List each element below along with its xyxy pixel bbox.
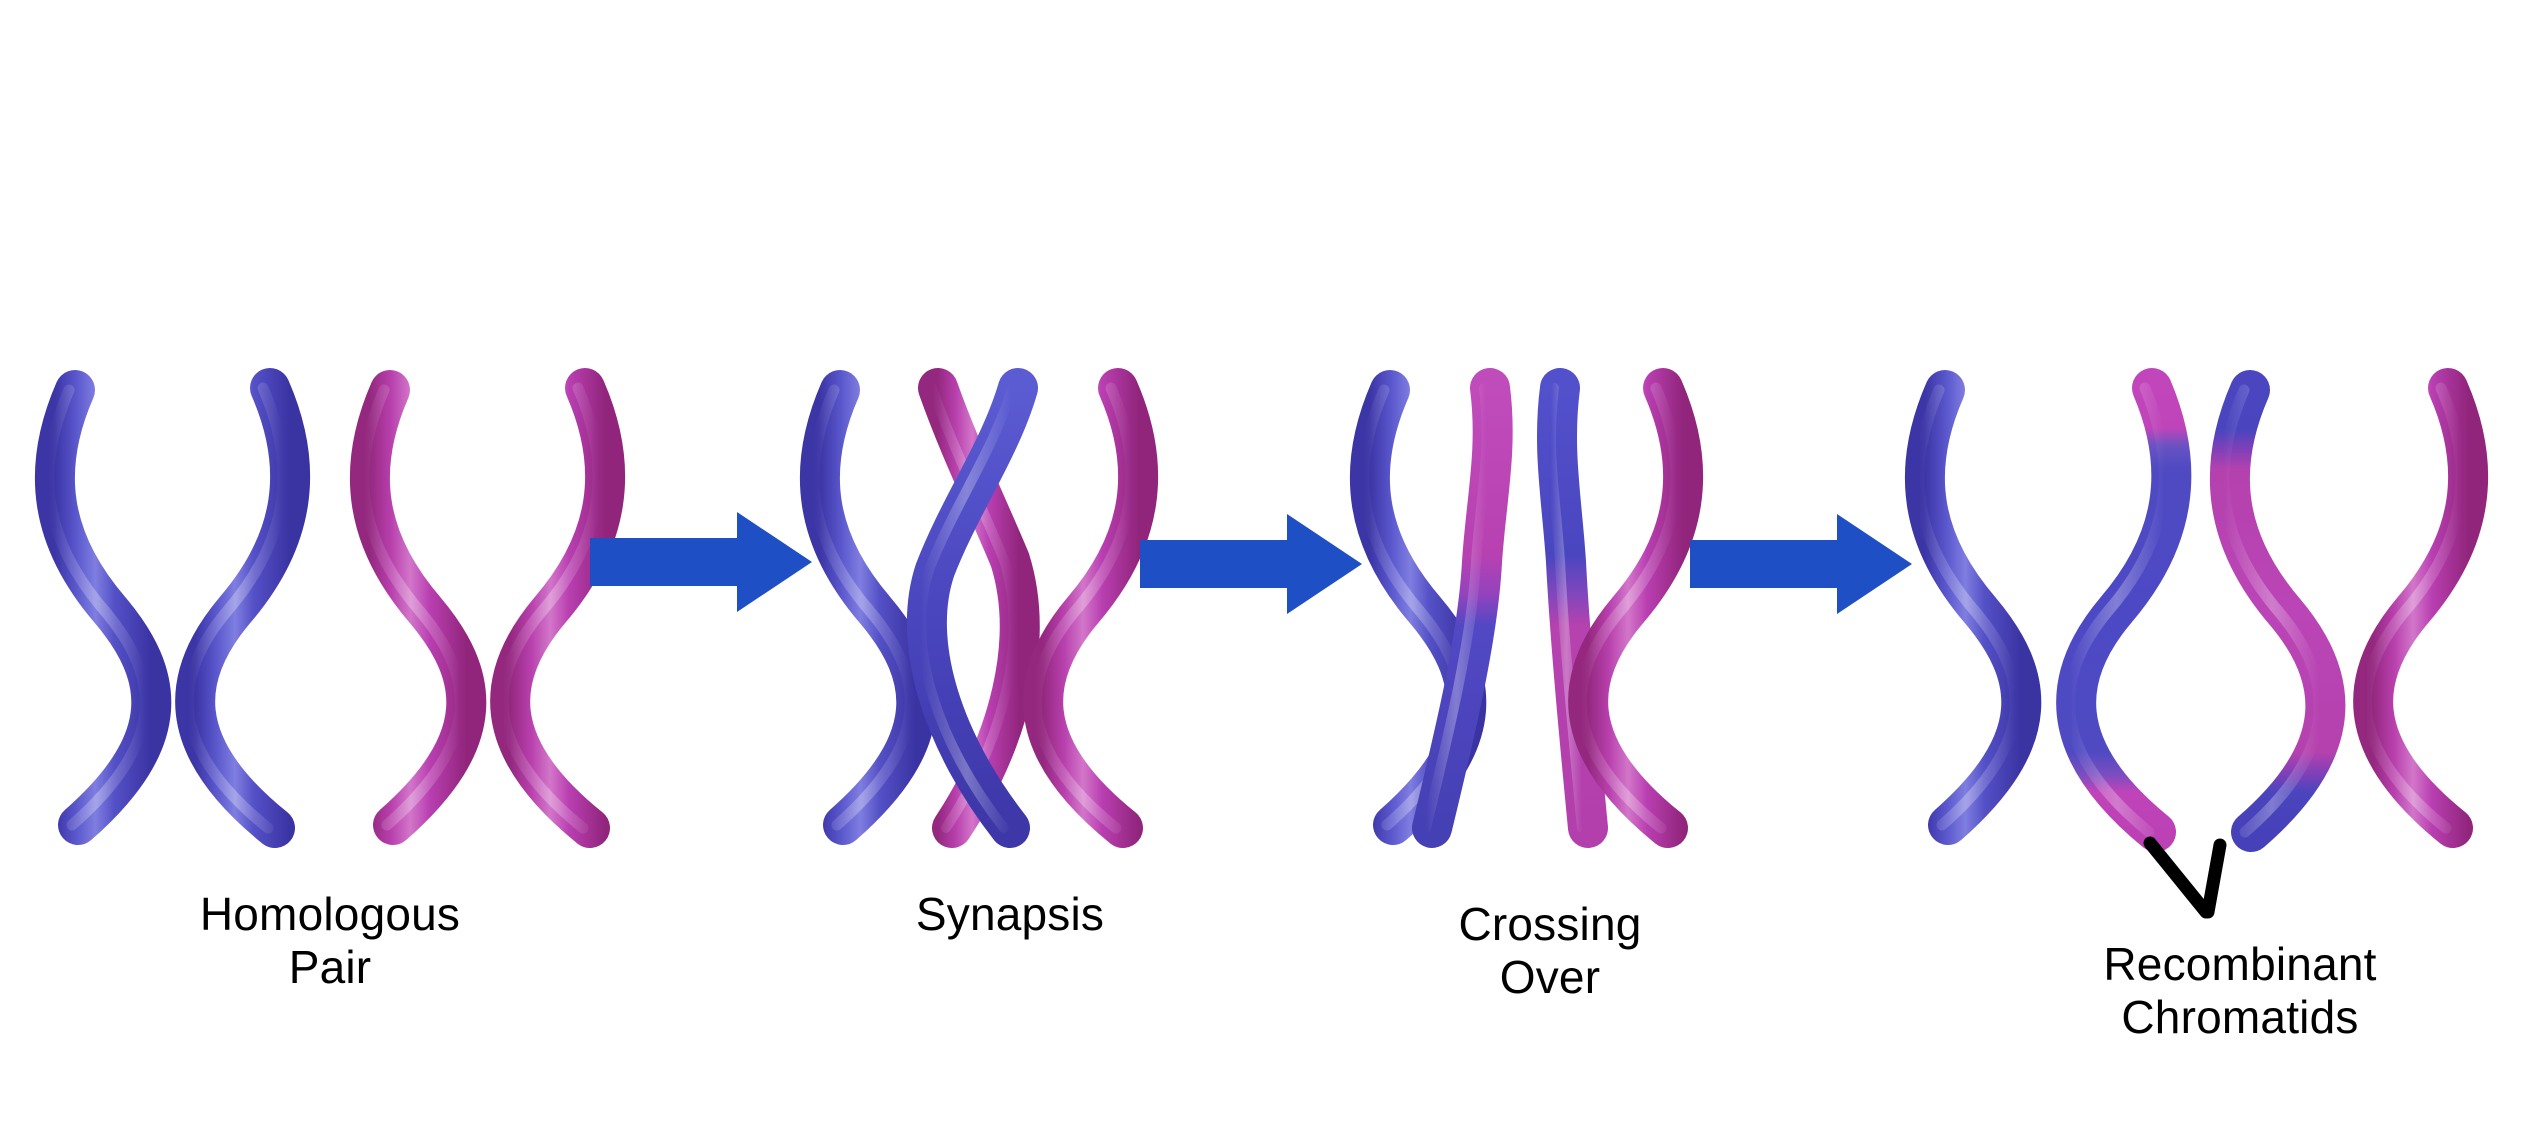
stage-homologous-pair [49, 388, 605, 828]
blue-homolog-chromosome [49, 388, 290, 828]
arrow-right-icon [590, 512, 812, 612]
magenta-homolog-chromosome [364, 388, 605, 828]
arrow-2 [1140, 514, 1362, 614]
stage-label-recombinant-chromatids: Recombinant Chromatids [1930, 938, 2531, 1045]
stage-label-crossing-over: Crossing Over [1240, 898, 1860, 1005]
stage-label-homologous-pair: Homologous Pair [20, 888, 640, 995]
arrow-right-icon [1690, 514, 1912, 614]
stage-label-synapsis: Synapsis [700, 888, 1320, 941]
recombinant-pointer-leader-line [2150, 843, 2220, 912]
meiosis-crossing-over-diagram: Homologous Pair Synapsis Crossing Over R… [0, 0, 2531, 1139]
stage-recombinant-chromatids [1919, 388, 2468, 832]
arrow-3 [1690, 514, 1912, 614]
pointer-line-right [2208, 845, 2220, 912]
arrow-right-icon [1140, 514, 1362, 614]
stage-synapsis [814, 388, 1138, 828]
stage-crossing-over [1364, 388, 1683, 828]
arrow-1 [590, 512, 812, 612]
pointer-line-left [2150, 843, 2206, 912]
